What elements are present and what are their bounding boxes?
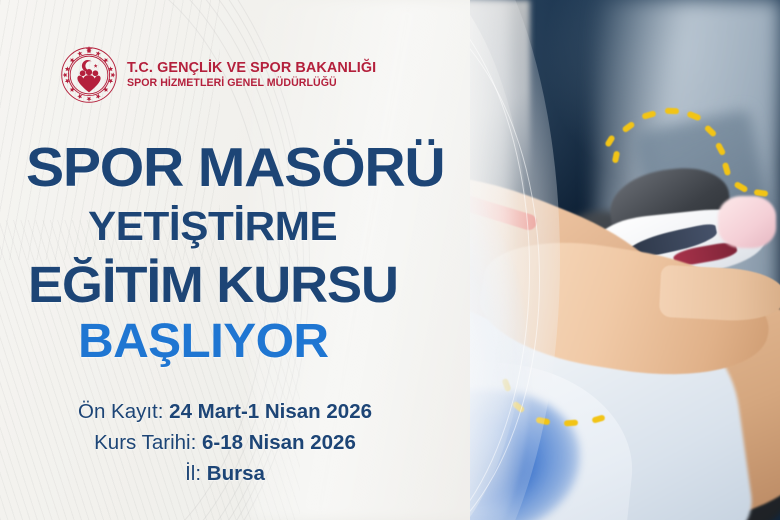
- detail-value: 24 Mart-1 Nisan 2026: [169, 400, 372, 423]
- course-details: Ön Kayıt: 24 Mart-1 Nisan 2026 Kurs Tari…: [0, 396, 450, 489]
- headline-line-1: SPOR MASÖRÜ: [26, 140, 444, 195]
- detail-label: İl:: [185, 462, 201, 485]
- kinesiology-dash: [564, 420, 578, 427]
- directorate-name: SPOR HİZMETLERİ GENEL MÜDÜRLÜĞÜ: [127, 78, 376, 89]
- headline-line-4: BAŞLIYOR: [78, 318, 329, 366]
- detail-label: Kurs Tarihi:: [94, 431, 196, 454]
- athlete-sock: [718, 196, 776, 248]
- kinesiology-dash: [665, 108, 679, 114]
- detail-pre-registration: Ön Kayıt: 24 Mart-1 Nisan 2026: [0, 396, 450, 427]
- masseur-fingers: [659, 265, 780, 323]
- ministry-emblem-icon: [60, 46, 118, 104]
- detail-course-date: Kurs Tarihi: 6-18 Nisan 2026: [0, 427, 450, 458]
- headline-line-2: YETİŞTİRME: [88, 206, 337, 247]
- detail-province: İl: Bursa: [0, 458, 450, 489]
- poster: T.C. GENÇLİK VE SPOR BAKANLIĞI SPOR HİZM…: [0, 0, 780, 520]
- ministry-logo: T.C. GENÇLİK VE SPOR BAKANLIĞI SPOR HİZM…: [60, 46, 376, 104]
- ministry-logo-text: T.C. GENÇLİK VE SPOR BAKANLIĞI SPOR HİZM…: [127, 61, 376, 89]
- detail-value: Bursa: [207, 462, 265, 485]
- detail-value: 6-18 Nisan 2026: [202, 431, 356, 454]
- headline-line-3: EĞİTİM KURSU: [28, 259, 398, 310]
- detail-label: Ön Kayıt:: [78, 400, 163, 423]
- ministry-name: T.C. GENÇLİK VE SPOR BAKANLIĞI: [127, 61, 376, 75]
